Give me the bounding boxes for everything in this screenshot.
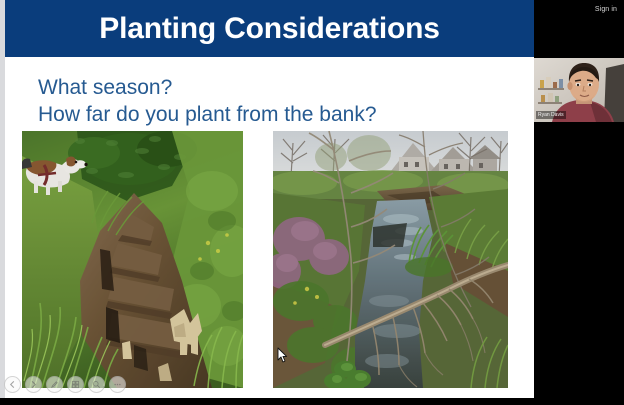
more-options-icon[interactable] <box>109 376 126 393</box>
previous-slide-icon[interactable] <box>4 376 21 393</box>
slide-image-eroding-stream-bank-with-dog <box>22 131 243 388</box>
grid-icon[interactable] <box>67 376 84 393</box>
video-panel: Sign in <box>534 0 624 405</box>
page-title: Planting Considerations <box>99 14 439 44</box>
pen-icon[interactable] <box>46 376 63 393</box>
participant-video-tile[interactable]: Ryan Davis <box>534 58 624 122</box>
slide-area[interactable]: Planting Considerations What season? How… <box>0 0 534 398</box>
slide-title-bar: Planting Considerations <box>5 0 534 57</box>
slide-image-stream-with-fallen-branches <box>273 131 508 388</box>
participant-name-badge: Ryan Davis <box>536 111 566 119</box>
sign-in-button[interactable]: Sign in <box>595 6 617 13</box>
next-slide-icon[interactable] <box>25 376 42 393</box>
slide-body-line-2: How far do you plant from the bank? <box>38 104 377 125</box>
presentation-window: Planting Considerations What season? How… <box>0 0 624 405</box>
window-bottom-band <box>0 398 624 405</box>
zoom-icon[interactable] <box>88 376 105 393</box>
slide-body-line-1: What season? <box>38 77 172 98</box>
presenter-controls[interactable] <box>4 376 126 393</box>
